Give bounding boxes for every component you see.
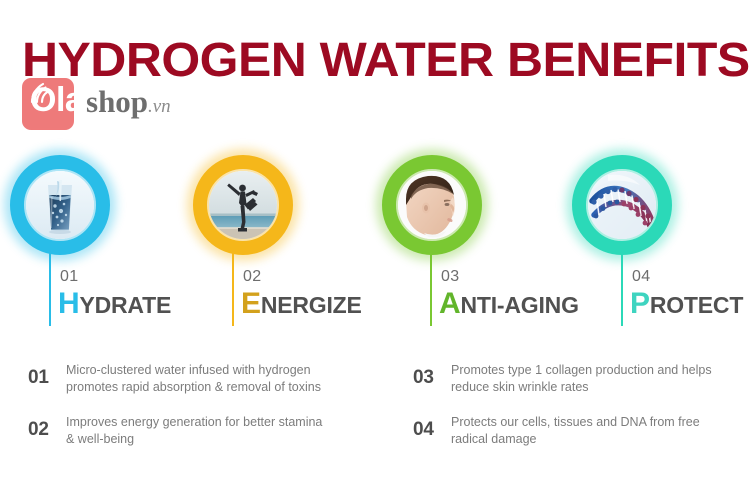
benefit-circle	[382, 155, 482, 255]
benefit-label-initial: A	[439, 287, 460, 320]
woman-face-profile-icon	[398, 171, 466, 239]
benefit-circle	[572, 155, 672, 255]
connector-line	[49, 252, 51, 326]
detail-number: 03	[413, 362, 451, 388]
detail-text: Promotes type 1 collagen production and …	[451, 362, 719, 396]
benefit-label: HYDRATE	[58, 289, 171, 320]
dna-helix-icon	[588, 171, 656, 239]
connector-line	[621, 252, 623, 326]
benefit-label-rest: ROTECT	[650, 292, 743, 318]
infographic-canvas: HYDROGEN WATER BENEFITS Ola shop .vn	[0, 0, 750, 500]
detail-text: Protects our cells, tissues and DNA from…	[451, 414, 719, 448]
glass-of-water-icon	[26, 171, 94, 239]
list-item: 01 Micro-clustered water infused with hy…	[28, 362, 334, 396]
yoga-pose-icon	[209, 171, 277, 239]
logo-text-tld: .vn	[148, 96, 171, 118]
benefit-circle	[10, 155, 110, 255]
benefit-label: ANTI-AGING	[439, 289, 579, 320]
detail-number: 04	[413, 414, 451, 440]
benefit-label-rest: NERGIZE	[261, 292, 362, 318]
detail-number: 01	[28, 362, 66, 388]
benefit-label-rest: YDRATE	[79, 292, 171, 318]
benefit-number: 01	[60, 268, 78, 286]
logo-text-ola: Ola	[30, 74, 83, 126]
list-item: 03 Promotes type 1 collagen production a…	[413, 362, 719, 396]
detail-text: Improves energy generation for better st…	[66, 414, 334, 448]
benefit-label-initial: H	[58, 287, 79, 320]
benefit-label-rest: NTI-AGING	[460, 292, 578, 318]
benefit-label: PROTECT	[630, 289, 743, 320]
detail-text: Micro-clustered water infused with hydro…	[66, 362, 334, 396]
logo-text-shop: shop	[86, 78, 148, 126]
list-item: 02 Improves energy generation for better…	[28, 414, 334, 448]
benefit-number: 02	[243, 268, 261, 286]
benefit-label: ENERGIZE	[241, 289, 362, 320]
benefit-label-initial: P	[630, 287, 650, 320]
connector-line	[232, 252, 234, 326]
benefit-circle	[193, 155, 293, 255]
benefit-number: 03	[441, 268, 459, 286]
benefit-label-initial: E	[241, 287, 261, 320]
benefit-details-list: 01 Micro-clustered water infused with hy…	[0, 352, 750, 482]
benefit-number: 04	[632, 268, 650, 286]
connector-line	[430, 252, 432, 326]
list-item: 04 Protects our cells, tissues and DNA f…	[413, 414, 719, 448]
detail-number: 02	[28, 414, 66, 440]
